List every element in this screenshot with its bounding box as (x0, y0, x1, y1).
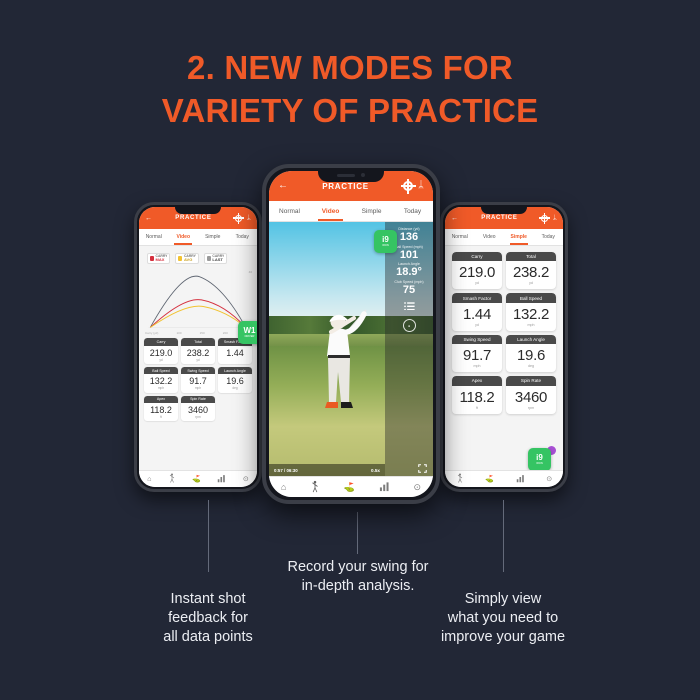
nav-bar-chart-icon[interactable] (379, 481, 390, 494)
metric-value: 91.7 (189, 374, 207, 386)
tab-today[interactable]: Today (228, 229, 258, 245)
metric-card-ball-speed[interactable]: Ball Speed 132.2 mph (506, 293, 556, 330)
tab-simple[interactable]: Simple (198, 229, 228, 245)
simple-cards-grid: Carry 219.0 yd Total 238.2 yd Smash Fact… (445, 246, 563, 414)
metric-unit: mph (195, 386, 201, 393)
golfer-figure (308, 298, 370, 430)
chart-x-ticks: Carry (yd) 100 150 200 250 (145, 331, 251, 335)
metric-caption: Swing Speed (452, 335, 502, 344)
nav-home-icon[interactable]: ⌂ (281, 482, 286, 492)
metric-card-carry[interactable]: Carry 219.0 yd (144, 338, 178, 364)
metric-caption: Smash Factor (452, 293, 502, 302)
back-arrow-icon[interactable]: ← (145, 215, 152, 222)
tab-video[interactable]: Video (169, 229, 199, 245)
legend-swatch-max (150, 256, 154, 261)
video-side-controls: ● (403, 302, 416, 333)
list-lines-icon[interactable] (404, 302, 415, 311)
club-badge-name: W1 (244, 327, 256, 335)
phone-center-header-actions: ᛦ (403, 181, 424, 191)
metric-unit: deg (232, 386, 237, 393)
tab-today[interactable]: Today (534, 229, 564, 245)
phone-right-body: Carry 219.0 yd Total 238.2 yd Smash Fact… (445, 246, 563, 470)
chart-x-tick-2: 150 (200, 331, 205, 335)
connector-line-right (503, 500, 504, 572)
metric-value: 1.44 (226, 346, 244, 358)
metric-value: 1.44 (463, 303, 491, 323)
metric-unit: rpm (195, 415, 201, 422)
chart-x-tick-0: Carry (yd) (145, 331, 158, 335)
phone-center: ← PRACTICE ᛦ Normal Video Simple Today (262, 164, 440, 504)
phone-right-header-title: PRACTICE (458, 215, 541, 221)
golfer-swing-glyph (310, 480, 320, 493)
connector-line-left (208, 500, 209, 572)
metric-value: 19.6 (517, 344, 545, 364)
series-max-line (150, 277, 245, 328)
metric-unit: rpm (528, 406, 534, 414)
club-badge[interactable]: i9 IRON (528, 448, 551, 470)
chart-legend: CARRY MAX CARRY AVG CARRY LAST (139, 246, 257, 266)
phone-left-screen: ← PRACTICE ᛦ Normal Video Simple Today C… (139, 207, 257, 487)
metric-caption: Ball Speed (144, 367, 178, 374)
nav-bar-chart-icon[interactable] (217, 474, 226, 485)
tab-simple[interactable]: Simple (504, 229, 534, 245)
metric-card-spin-rate[interactable]: Spin Rate 3460 rpm (181, 396, 215, 422)
gear-icon[interactable] (403, 181, 413, 191)
stat-club-speed: Club Speed (mph) 75 (385, 280, 433, 297)
metric-value: 132.2 (513, 303, 549, 323)
metric-card-launch-angle[interactable]: Launch Angle 19.6 deg (506, 335, 556, 372)
nav-home-icon[interactable]: ⌂ (147, 476, 151, 483)
metric-unit: yd (475, 323, 479, 331)
nav-golfer-swing-icon[interactable] (456, 473, 464, 485)
club-badge-sub: IRON (536, 463, 542, 466)
club-badge[interactable]: i9 IRON (374, 230, 397, 253)
phone-left-header-actions: ᛦ (235, 215, 251, 222)
back-arrow-icon[interactable]: ← (451, 215, 458, 222)
nav-play-circle-icon[interactable]: ⊙ (414, 482, 422, 493)
metric-value: 219.0 (150, 346, 173, 358)
nav-play-circle-icon[interactable]: ⊙ (243, 475, 249, 483)
bluetooth-icon[interactable]: ᛦ (553, 215, 557, 222)
video-progress-bar[interactable]: 0:57 / 06:30 0.5x (269, 464, 385, 476)
phone-center-tabs: Normal Video Simple Today (269, 201, 433, 222)
metric-card-total[interactable]: Total 238.2 yd (506, 252, 556, 289)
metric-unit: ft (160, 415, 162, 422)
club-badge-name: i9 (536, 454, 543, 462)
gear-icon[interactable] (541, 215, 548, 222)
legend-item-avg: CARRY AVG (175, 253, 198, 264)
stat-launch-angle: Launch Angle 18.9° (385, 262, 433, 279)
metric-value: 132.2 (150, 374, 173, 386)
page-title-line-2: VARIETY OF PRACTICE (0, 89, 700, 132)
caption-left: Instant shot feedback for all data point… (123, 590, 293, 647)
speaker-grille (337, 174, 355, 177)
metric-card-spin-rate[interactable]: Spin Rate 3460 rpm (506, 376, 556, 413)
golfer-swing-glyph (168, 473, 176, 483)
metric-value: 3460 (515, 386, 547, 406)
metric-card-total[interactable]: Total 238.2 yd (181, 338, 215, 364)
club-badge-sub: DRIVER (245, 336, 255, 339)
phone-left-tabs: Normal Video Simple Today (139, 229, 257, 246)
bluetooth-icon[interactable]: ᛦ (418, 181, 424, 191)
nav-green-flag-icon[interactable]: ⛳ (485, 475, 494, 483)
metric-card-apex[interactable]: Apex 118.2 ft (452, 376, 502, 413)
phone-left: ← PRACTICE ᛦ Normal Video Simple Today C… (134, 202, 262, 492)
metric-caption: Carry (452, 252, 502, 261)
metric-caption: Swing Speed (181, 367, 215, 374)
nav-bar-chart-icon[interactable] (516, 474, 525, 485)
page-title-line-1: 2. NEW MODES FOR (0, 46, 700, 89)
club-badge[interactable]: W1 DRIVER (238, 321, 257, 344)
metric-value: 91.7 (463, 344, 491, 364)
metric-card-ball-speed[interactable]: Ball Speed 132.2 mph (144, 367, 178, 393)
legend-item-max: CARRY MAX (147, 253, 170, 264)
metric-card-swing-speed[interactable]: Swing Speed 91.7 mph (452, 335, 502, 372)
tab-today[interactable]: Today (392, 201, 433, 221)
page-title: 2. NEW MODES FOR VARIETY OF PRACTICE (0, 46, 700, 132)
metric-caption: Apex (144, 396, 178, 403)
tab-normal[interactable]: Normal (139, 229, 169, 245)
series-last-line (150, 307, 245, 328)
metric-caption: Spin Rate (506, 376, 556, 385)
metric-unit: yd (159, 358, 162, 365)
metric-unit: deg (528, 364, 534, 372)
chart-y-tick: 40 (249, 270, 252, 274)
stat-value: 75 (385, 284, 433, 297)
expand-fullscreen-icon[interactable] (418, 464, 427, 473)
metric-unit: yd (196, 358, 199, 365)
swing-video-player[interactable]: Distance (yd) 136 Ball Speed (mph) 101 L… (269, 222, 433, 476)
metric-value: 3460 (188, 403, 208, 415)
metric-value: 238.2 (513, 261, 549, 281)
metric-value: 238.2 (187, 346, 210, 358)
metric-unit: yd (475, 281, 479, 289)
connector-line-center (357, 512, 358, 554)
metric-caption: Total (506, 252, 556, 261)
legend-label-max: MAX (156, 258, 168, 262)
stat-value: 18.9° (385, 266, 433, 279)
phone-left-notch (175, 205, 221, 214)
playback-speed-label[interactable]: 0.5x (371, 468, 380, 473)
chart-x-tick-1: 100 (176, 331, 181, 335)
metric-unit: mph (474, 364, 481, 372)
phone-center-screen: ← PRACTICE ᛦ Normal Video Simple Today (269, 171, 433, 497)
legend-item-last: CARRY LAST (204, 253, 227, 264)
nav-golfer-swing-icon[interactable] (168, 473, 176, 485)
metric-value: 118.2 (150, 403, 172, 415)
bar-chart-glyph (379, 481, 390, 492)
phone-right: ← PRACTICE ᛦ Normal Video Simple Today C… (440, 202, 568, 492)
record-ring-icon[interactable]: ● (403, 319, 416, 332)
metric-value: 219.0 (459, 261, 495, 281)
tab-video[interactable]: Video (310, 201, 351, 221)
metric-caption: Launch Angle (218, 367, 252, 374)
phone-right-header-actions: ᛦ (541, 215, 557, 222)
legend-swatch-last (207, 256, 211, 261)
trajectory-chart-svg (145, 268, 251, 334)
video-timestamp: 0:57 / 06:30 (274, 468, 298, 473)
metric-caption: Launch Angle (506, 335, 556, 344)
metric-unit: ft (476, 406, 478, 414)
nav-green-flag-icon[interactable]: ⛳ (344, 482, 355, 493)
tab-normal[interactable]: Normal (445, 229, 475, 245)
metric-unit: mph (528, 323, 535, 331)
metric-value: 19.6 (226, 374, 244, 386)
phone-center-bottom-nav: ⌂ ⛳ ⊙ (269, 476, 433, 497)
legend-label-last: LAST (212, 258, 224, 262)
stat-label: Club Speed (mph) (385, 280, 433, 284)
stat-label: Launch Angle (385, 262, 433, 266)
metric-card-smash-factor[interactable]: Smash Factor 1.44 yd (452, 293, 502, 330)
legend-label-avg: AVG (184, 258, 196, 262)
bluetooth-icon[interactable]: ᛦ (247, 215, 251, 222)
live-stats-overlay: Distance (yd) 136 Ball Speed (mph) 101 L… (385, 222, 433, 476)
legend-swatch-avg (178, 256, 182, 261)
phone-right-notch (481, 205, 527, 214)
tab-normal[interactable]: Normal (269, 201, 310, 221)
metric-unit: mph (158, 386, 164, 393)
bar-chart-glyph (217, 474, 226, 483)
phone-center-header-title: PRACTICE (288, 182, 403, 191)
chart-x-tick-3: 200 (223, 331, 228, 335)
metric-card-apex[interactable]: Apex 118.2 ft (144, 396, 178, 422)
club-badge-name: i9 (382, 236, 389, 244)
front-camera (361, 173, 365, 177)
nav-green-flag-icon[interactable]: ⛳ (192, 475, 201, 483)
phone-center-notch (318, 168, 384, 182)
gear-icon[interactable] (235, 215, 242, 222)
metric-caption: Spin Rate (181, 396, 215, 403)
caption-right: Simply view what you need to improve you… (408, 590, 598, 647)
metric-card-launch-angle[interactable]: Launch Angle 19.6 deg (218, 367, 252, 393)
bar-chart-glyph (516, 474, 525, 483)
metric-value: 118.2 (460, 386, 495, 406)
metric-unit: yd (529, 281, 533, 289)
tab-video[interactable]: Video (475, 229, 505, 245)
nav-golfer-swing-icon[interactable] (310, 480, 320, 495)
club-badge-sub: IRON (382, 245, 388, 248)
nav-play-circle-icon[interactable]: ⊙ (546, 475, 552, 483)
metric-caption: Ball Speed (506, 293, 556, 302)
back-arrow-icon[interactable]: ← (278, 181, 288, 191)
metric-caption: Total (181, 338, 215, 345)
metric-cards-grid: Carry 219.0 yd Total 238.2 yd Smash Fact… (139, 334, 257, 421)
metric-caption: Carry (144, 338, 178, 345)
golfer-swing-glyph (456, 473, 464, 483)
phone-right-screen: ← PRACTICE ᛦ Normal Video Simple Today C… (445, 207, 563, 487)
phone-left-bottom-nav: ⌂ ⛳ ⊙ (139, 470, 257, 487)
phone-left-header-title: PRACTICE (152, 215, 235, 221)
phone-left-body: CARRY MAX CARRY AVG CARRY LAST (139, 246, 257, 470)
tab-simple[interactable]: Simple (351, 201, 392, 221)
metric-caption: Apex (452, 376, 502, 385)
trajectory-chart: 40 Carry (yd) 100 150 200 250 (145, 268, 251, 334)
metric-card-swing-speed[interactable]: Swing Speed 91.7 mph (181, 367, 215, 393)
phone-right-tabs: Normal Video Simple Today (445, 229, 563, 246)
metric-card-carry[interactable]: Carry 219.0 yd (452, 252, 502, 289)
phone-right-bottom-nav: ⛳ ⊙ (445, 470, 563, 487)
